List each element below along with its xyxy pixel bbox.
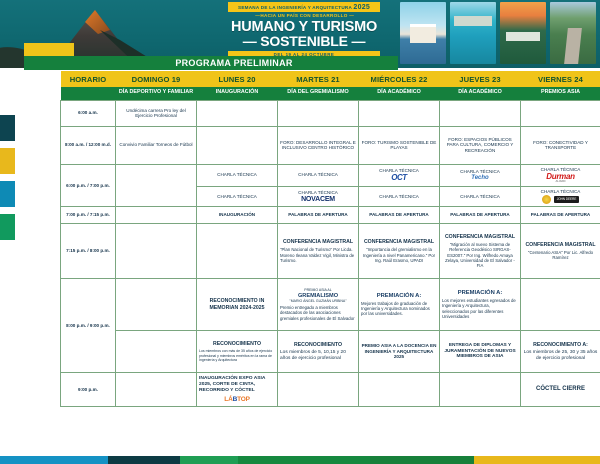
hero-tagline: — HACIA UN PAÍS CON DESARROLLO — (228, 14, 380, 19)
cell-miercoles-0800: FORO: TURISMO SOSTENIBLE DE PLAYAS (359, 126, 440, 164)
header-viernes: VIERNES 24 (521, 71, 600, 87)
cell-miercoles-conferencia: CONFERENCIA MAGISTRAL "Importancia del g… (359, 224, 440, 279)
subheader-lunes: INAUGURACIÓN (197, 87, 278, 100)
subheader-domingo: DÍA DEPORTIVO Y FAMILIAR (116, 87, 197, 100)
cell-viernes-conferencia: CONFERENCIA MAGISTRAL "Centenario ASIA" … (521, 224, 600, 279)
cell-martes-charla-2: CHARLA TÉCNICA NOVACEM (278, 186, 359, 207)
footer-segment-yellow (474, 456, 600, 464)
cell-miercoles-0600 (359, 100, 440, 126)
conferencia-body: "Migración al nuevo Sistema de Referenci… (442, 242, 518, 268)
header-lunes: LUNES 20 (197, 71, 278, 87)
reconocimiento-title: RECONOCIMIENTO (213, 341, 261, 347)
subheader-blank (61, 87, 116, 100)
photo-strip (400, 2, 596, 64)
cell-miercoles-charla-2: CHARLA TÉCNICA (359, 186, 440, 207)
header-martes: MARTES 21 (278, 71, 359, 87)
cell-lunes-charla-2: CHARLA TÉCNICA (197, 186, 278, 207)
table-header-days: HORARIO DOMINGO 19 LUNES 20 MARTES 21 MI… (61, 71, 600, 87)
table-row: 9:00 p.m. INAUGURACIÓN EXPO ASIA 2025, C… (61, 373, 600, 407)
footer-segment-green-dark (370, 456, 474, 464)
cell-martes-0800: FORO: DESARROLLO INTEGRAL E INCLUSIVO CE… (278, 126, 359, 164)
decor-strip-green (24, 56, 70, 70)
header-jueves: JUEVES 23 (440, 71, 521, 87)
row-time-0600pm: 6:00 p.m. / 7:00 p.m. (61, 164, 116, 207)
row-time-0600am: 6:00 a.m. (61, 100, 116, 126)
subheader-viernes: PREMIOS ASIA (521, 87, 600, 100)
conferencia-body: "Importancia del gremialismo en la Ingen… (361, 247, 437, 263)
table-row: 6:00 p.m. / 7:00 p.m. CHARLA TÉCNICA CHA… (61, 164, 600, 186)
cell-martes-0600 (278, 100, 359, 126)
photo-pueblo-montana (500, 2, 546, 64)
hero-title-line2: — SOSTENIBLE — (228, 34, 380, 48)
techo-logo: Techo (442, 175, 518, 181)
conferencia-title: CONFERENCIA MAGISTRAL (283, 239, 353, 245)
footer-segment-dark-teal (108, 456, 180, 464)
decor-strip-yellow (24, 43, 74, 56)
photo-puerto-costa (450, 2, 496, 64)
charla-label: CHARLA TÉCNICA (541, 189, 581, 194)
footer-segment-blue (0, 456, 108, 464)
cell-viernes-0600 (521, 100, 600, 126)
cell-martes-gremialismo: PREMIO ASIA AL GREMIALISMO "MARIO ÁNGEL … (278, 279, 359, 331)
cell-miercoles-0900pm (359, 373, 440, 407)
cell-lunes-charla-1: CHARLA TÉCNICA (197, 164, 278, 186)
cell-viernes-reconocimiento: RECONOCIMIENTO A: Los miembros de 25, 30… (521, 331, 600, 373)
conferencia-title: CONFERENCIA MAGISTRAL (525, 242, 595, 248)
decor-swatch-green (0, 214, 15, 240)
charla-label: CHARLA TÉCNICA (460, 194, 500, 199)
decor-swatch-blue (0, 181, 15, 207)
cell-domingo-0800pm (116, 279, 197, 331)
cell-domingo-0600: Undécima carrera Pro ley del Ejercicio P… (116, 100, 197, 126)
table-row: 7:15 p.m. / 8:00 p.m. CONFERENCIA MAGIST… (61, 224, 600, 279)
cell-domingo-0715pm (116, 224, 197, 279)
table-row: 8:00 p.m. / 9:00 p.m. RECONOCIMIENTO IN … (61, 279, 600, 331)
sun-icon (542, 195, 551, 204)
cell-lunes-inmemorian: RECONOCIMIENTO IN MEMORIAN 2024-2025 (197, 279, 278, 331)
labtop-logo: LÁBTOP (199, 396, 275, 404)
cell-domingo-charla (116, 164, 197, 207)
durman-logo: Durman ALIADO (523, 173, 598, 184)
cell-jueves-conferencia: CONFERENCIA MAGISTRAL "Migración al nuev… (440, 224, 521, 279)
subheader-martes: DÍA DEL GREMIALISMO (278, 87, 359, 100)
program-poster: SEMANA DE LA INGENIERÍA Y ARQUITECTURA 2… (0, 0, 600, 464)
charla-label: CHARLA TÉCNICA (298, 190, 338, 195)
header-horario: HORARIO (61, 71, 116, 87)
cell-domingo-reconocimiento (116, 331, 197, 373)
premiacion-body: Mejores trabajos de graduación de Ingeni… (361, 301, 437, 317)
schedule-table-wrapper: HORARIO DOMINGO 19 LUNES 20 MARTES 21 MI… (60, 71, 600, 407)
cell-lunes-0700pm: INAUGURACIÓN (197, 207, 278, 224)
hero-title-line1: HUMANO Y TURISMO (228, 20, 380, 35)
cell-jueves-0600 (440, 100, 521, 126)
reconocimiento-body: Los miembros de 25, 30 y 35 años de ejer… (523, 350, 598, 362)
cell-martes-0700pm: PALABRAS DE APERTURA (278, 207, 359, 224)
cell-martes-reconocimiento: RECONOCIMIENTO Los miembros de 5, 10,15 … (278, 331, 359, 373)
cell-lunes-expo: INAUGURACIÓN EXPO ASIA 2025, CORTE DE CI… (197, 373, 278, 407)
charla-label: CHARLA TÉCNICA (541, 167, 581, 172)
expo-label: INAUGURACIÓN EXPO ASIA 2025, CORTE DE CI… (199, 376, 265, 393)
footer-segment-green-light (180, 456, 238, 464)
charla-label: CHARLA TÉCNICA (217, 172, 257, 177)
header-miercoles: MIÉRCOLES 22 (359, 71, 440, 87)
charla-label: CHARLA TÉCNICA (379, 168, 419, 173)
cell-martes-charla-1: CHARLA TÉCNICA (278, 164, 359, 186)
cell-viernes-charla-2: CHARLA TÉCNICA JOHN DEERE (521, 186, 600, 207)
subheader-miercoles: DÍA ACADÉMICO (359, 87, 440, 100)
cell-miercoles-premiacion: PREMIACIÓN A: Mejores trabajos de gradua… (359, 279, 440, 331)
hero-title-block: SEMANA DE LA INGENIERÍA Y ARQUITECTURA 2… (228, 2, 380, 59)
conferencia-body: "Centenario ASIA" Por Lic. Alfredo Ramír… (523, 250, 598, 260)
cell-lunes-reconocimiento: RECONOCIMIENTO Los miembros con más de 3… (197, 331, 278, 373)
cell-viernes-coctel: CÓCTEL CIERRE (521, 373, 600, 407)
cell-viernes-charla-1: CHARLA TÉCNICA Durman ALIADO (521, 164, 600, 186)
reconocimiento-title: RECONOCIMIENTO (294, 342, 342, 348)
premio-body: Premio entregado a miembros destacados d… (280, 305, 356, 321)
decor-swatch-dark-teal (0, 115, 15, 141)
cell-jueves-0700pm: PALABRAS DE APERTURA (440, 207, 521, 224)
premiacion-title: PREMIACIÓN A: (458, 290, 503, 296)
cell-miercoles-charla-1: CHARLA TÉCNICA OCT (359, 164, 440, 186)
cell-jueves-premiacion: PREMIACIÓN A: Los mejores estudiantes eg… (440, 279, 521, 331)
event-banner-label: SEMANA DE LA INGENIERÍA Y ARQUITECTURA 2… (228, 2, 380, 12)
cell-miercoles-premio-docencia: PREMIO ASIA A LA DOCENCIA EN INGENIERÍA … (359, 331, 440, 373)
conferencia-title: CONFERENCIA MAGISTRAL (364, 239, 434, 245)
conferencia-title: CONFERENCIA MAGISTRAL (445, 234, 515, 240)
oct-logo: OCT (361, 174, 437, 182)
cell-martes-conferencia: CONFERENCIA MAGISTRAL "Plan Nacional de … (278, 224, 359, 279)
cell-miercoles-0700pm: PALABRAS DE APERTURA (359, 207, 440, 224)
photo-carretera-bosque (550, 2, 596, 64)
cell-domingo-0900pm (116, 373, 197, 407)
table-row: 6:00 a.m. Undécima carrera Pro ley del E… (61, 100, 600, 126)
premio-subtitle: "MARIO ÁNGEL GUZMÁN URBINA" (280, 299, 356, 303)
novacem-logo: NOVACEM (280, 196, 356, 203)
cell-lunes-0800 (197, 126, 278, 164)
cell-domingo-0700pm (116, 207, 197, 224)
premio-title: GREMIALISMO (298, 293, 338, 299)
cell-jueves-diplomas: ENTREGA DE DIPLOMAS Y JURAMENTACIÓN DE N… (440, 331, 521, 373)
charla-label: CHARLA TÉCNICA (217, 194, 257, 199)
schedule-table: HORARIO DOMINGO 19 LUNES 20 MARTES 21 MI… (60, 71, 600, 407)
row-time-0900pm: 9:00 p.m. (61, 373, 116, 407)
charla-label: CHARLA TÉCNICA (298, 172, 338, 177)
photo-palacio-nacional (400, 2, 446, 64)
reconocimiento-body: Los miembros de 5, 10,15 y 20 años de ej… (280, 350, 356, 362)
cell-martes-0900pm (278, 373, 359, 407)
cell-lunes-0600 (197, 100, 278, 126)
table-header-themes: DÍA DEPORTIVO Y FAMILIAR INAUGURACIÓN DÍ… (61, 87, 600, 100)
footer-segment-green (238, 456, 370, 464)
footer-color-bar (0, 456, 600, 464)
table-row: 7:00 p.m. / 7:15 p.m. INAUGURACIÓN PALAB… (61, 207, 600, 224)
table-row: RECONOCIMIENTO Los miembros con más de 3… (61, 331, 600, 373)
cell-jueves-0800: FORO: ESPACIOS PÚBLICOS PARA CULTURA, CO… (440, 126, 521, 164)
row-time-0715pm: 7:15 p.m. / 8:00 p.m. (61, 224, 116, 279)
conferencia-body: "Plan Nacional de Turismo" Por Licda. Mo… (280, 247, 356, 263)
cell-domingo-0800: Convivio Familiar Torneos de Fútbol (116, 126, 197, 164)
cell-lunes-0715pm (197, 224, 278, 279)
premiacion-body: Los mejores estudiantes egresados de Ing… (442, 298, 518, 319)
subheader-jueves: DÍA ACADÉMICO (440, 87, 521, 100)
header-domingo: DOMINGO 19 (116, 71, 197, 87)
table-row: 8:00 a.m. / 12:00 m.d. Convivio Familiar… (61, 126, 600, 164)
cell-jueves-charla-2: CHARLA TÉCNICA (440, 186, 521, 207)
cell-viernes-0800: FORO: CONECTIVIDAD Y TRANSPORTE (521, 126, 600, 164)
premiacion-title: PREMIACIÓN A: (377, 293, 422, 299)
program-title-bar: PROGRAMA PRELIMINAR (70, 56, 398, 70)
row-time-0700pm: 7:00 p.m. / 7:15 p.m. (61, 207, 116, 224)
cell-jueves-0900pm (440, 373, 521, 407)
row-time-0800am: 8:00 a.m. / 12:00 m.d. (61, 126, 116, 164)
row-time-0800pm: 8:00 p.m. / 9:00 p.m. (61, 279, 116, 373)
charla-label: CHARLA TÉCNICA (379, 194, 419, 199)
reconocimiento-body: Los miembros con más de 35 años de ejerc… (199, 349, 275, 362)
reconocimiento-title: RECONOCIMIENTO A: (533, 342, 588, 348)
decor-swatch-yellow (0, 148, 15, 174)
john-deere-logo: JOHN DEERE (523, 195, 598, 204)
cell-viernes-0700pm: PALABRAS DE APERTURA (521, 207, 600, 224)
charla-label: CHARLA TÉCNICA (460, 169, 500, 174)
cell-jueves-charla-1: CHARLA TÉCNICA Techo (440, 164, 521, 186)
